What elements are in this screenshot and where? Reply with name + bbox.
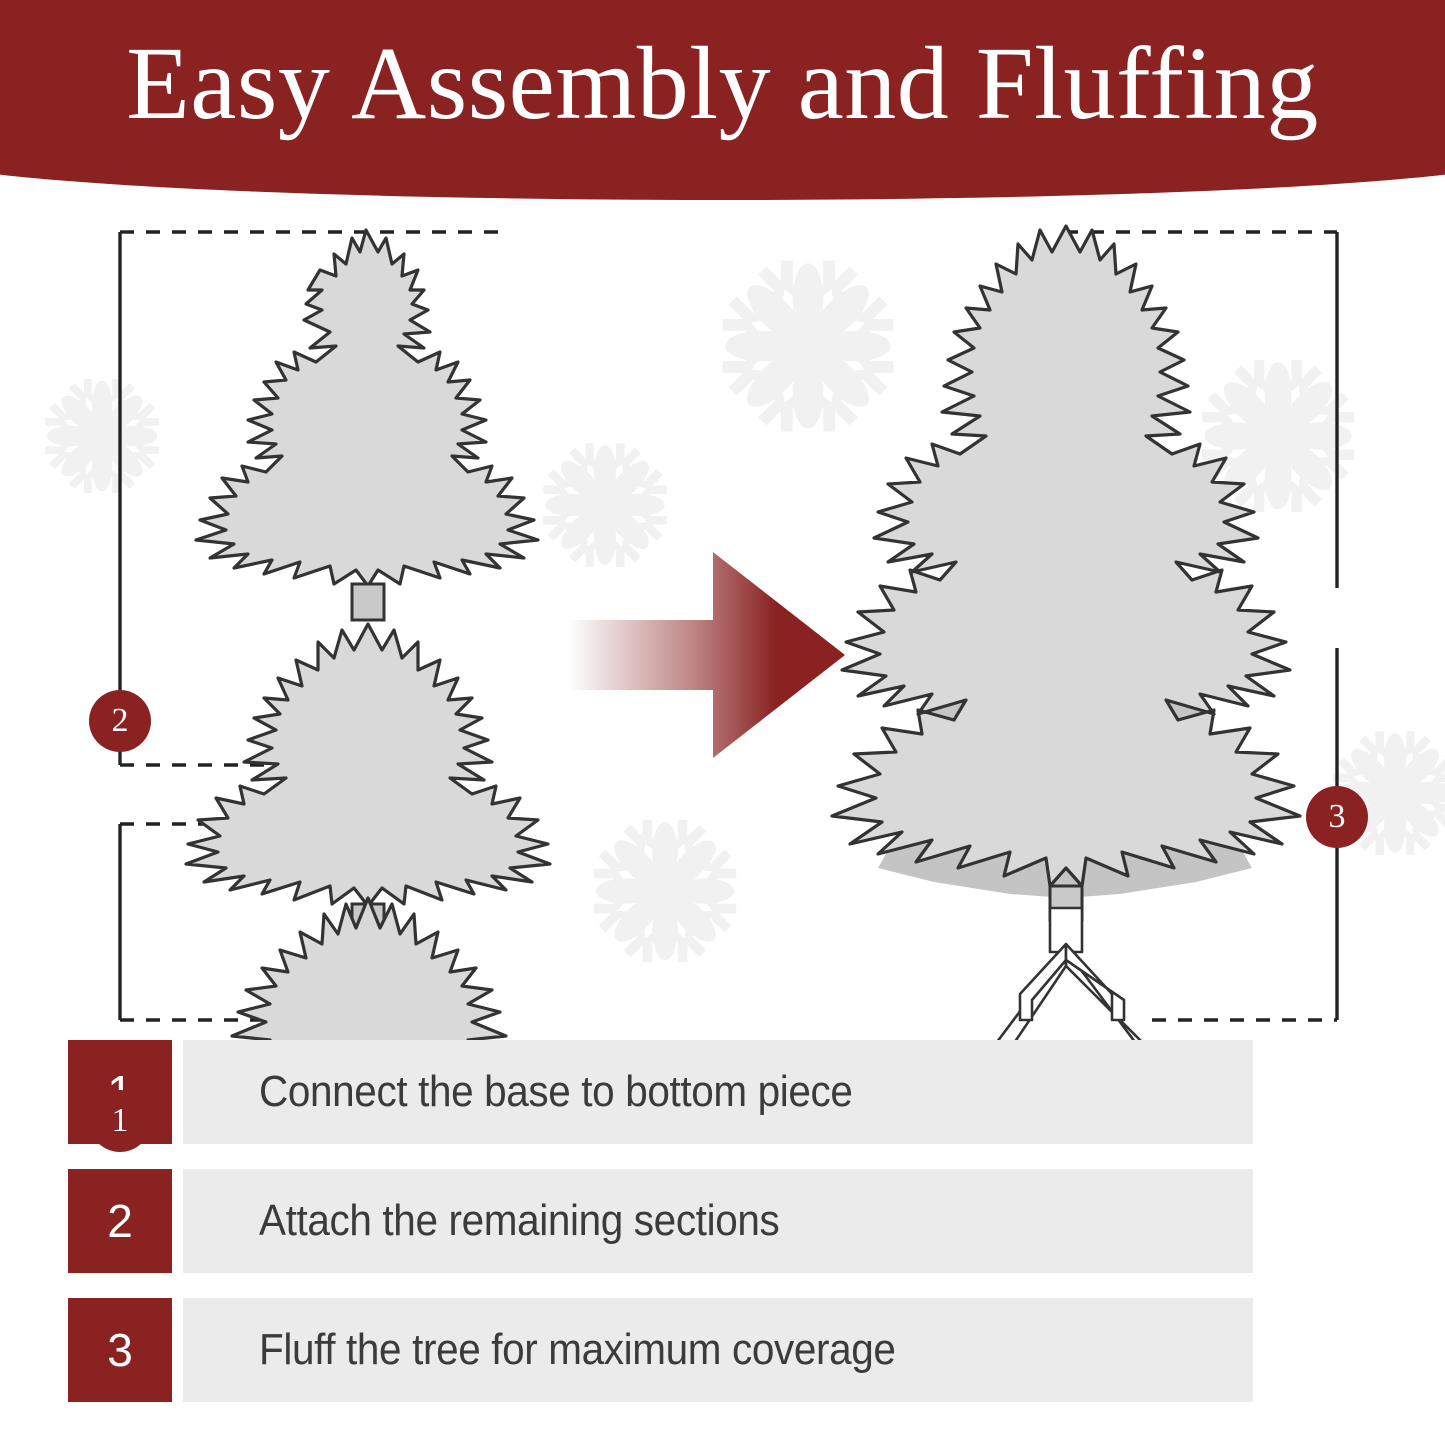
legend-number-2: 2 <box>68 1169 172 1273</box>
tree-stand-right <box>994 908 1152 1040</box>
tree-bottom-outline <box>158 898 580 1040</box>
tree-top-outline <box>196 230 538 586</box>
legend-bar-1: Connect the base to bottom piece <box>183 1040 1253 1144</box>
page-title: Easy Assembly and Fluffing <box>0 28 1445 140</box>
legend-row-3: 3 Fluff the tree for maximum coverage <box>0 1298 1445 1402</box>
assembly-illustration <box>0 200 1445 1040</box>
header-banner: Easy Assembly and Fluffing <box>0 0 1445 205</box>
tree-middle-outline <box>186 624 550 906</box>
process-arrow-icon <box>568 552 845 758</box>
assembled-fluffed-tree <box>832 226 1300 1040</box>
legend-text-3: Fluff the tree for maximum coverage <box>259 1325 896 1375</box>
legend-text-1: Connect the base to bottom piece <box>259 1067 853 1117</box>
steps-legend: 1 Connect the base to bottom piece 2 Att… <box>0 1040 1445 1427</box>
tree-section-bottom <box>158 898 580 1040</box>
disassembled-tree-sections <box>158 230 580 1040</box>
tree-section-top <box>196 230 538 620</box>
legend-row-2: 2 Attach the remaining sections <box>0 1169 1445 1273</box>
assembled-tree-outline <box>832 226 1300 886</box>
tree-top-connector-peg <box>352 584 384 620</box>
step-marker-3: 3 <box>1306 786 1368 848</box>
legend-bar-3: Fluff the tree for maximum coverage <box>183 1298 1253 1402</box>
illustration-area: 2 1 3 <box>0 200 1445 1040</box>
legend-row-1: 1 Connect the base to bottom piece <box>0 1040 1445 1144</box>
step-marker-1: 1 <box>89 1090 151 1152</box>
legend-text-2: Attach the remaining sections <box>259 1196 779 1246</box>
legend-number-3: 3 <box>68 1298 172 1402</box>
infographic-page: Easy Assembly and Fluffing <box>0 0 1445 1445</box>
tree-section-middle <box>186 624 550 940</box>
legend-bar-2: Attach the remaining sections <box>183 1169 1253 1273</box>
step-marker-2: 2 <box>89 690 151 752</box>
